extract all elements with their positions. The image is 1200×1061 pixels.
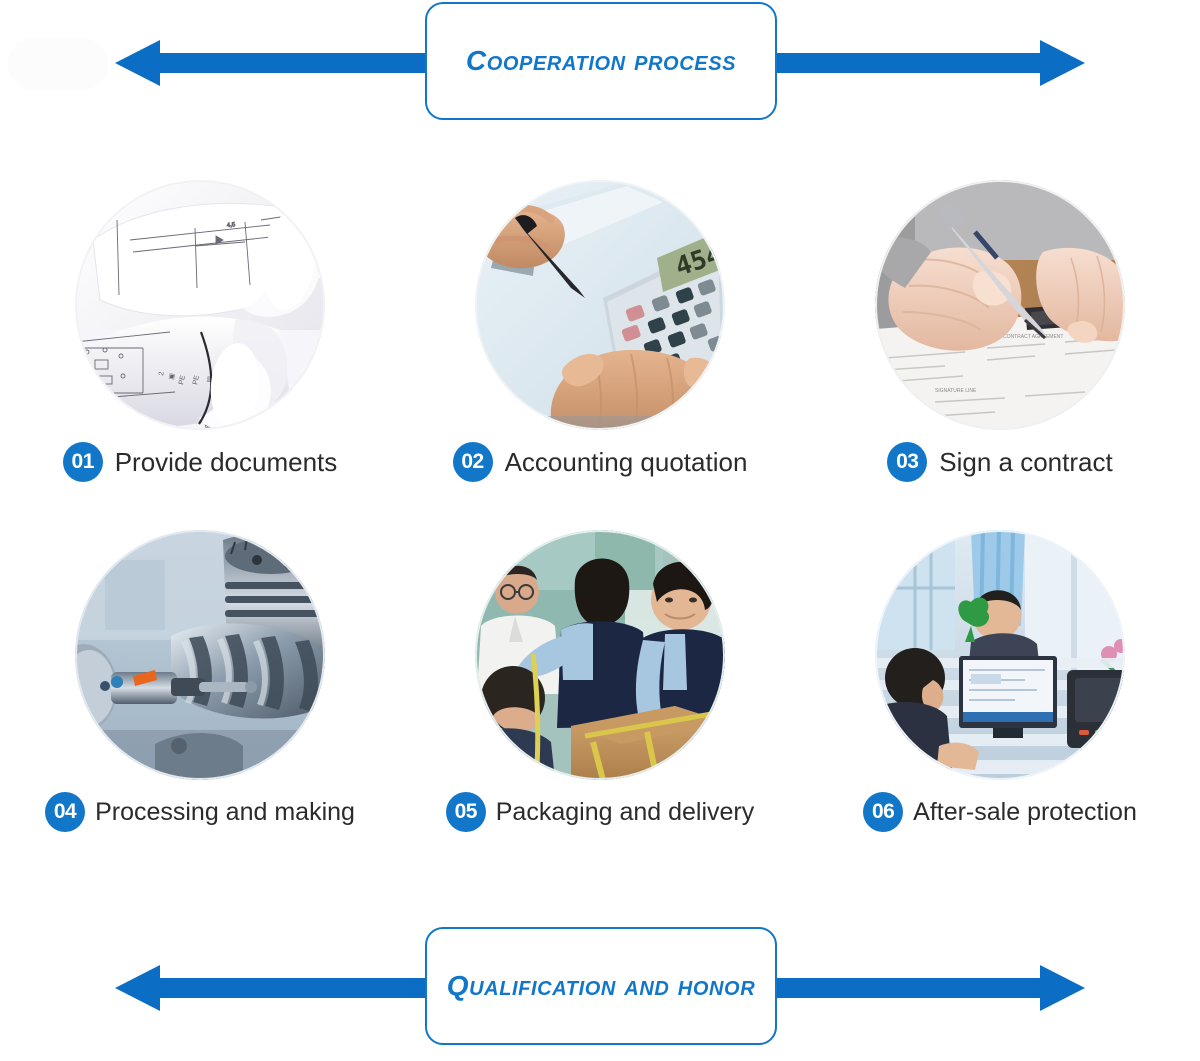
calculator-hands-photo: 4545 <box>475 180 725 430</box>
svg-text:CONTRACT AGREEMENT: CONTRACT AGREEMENT <box>1003 334 1063 340</box>
step-number-badge: 01 <box>63 442 103 482</box>
contract-signing-photo: CONTRACT AGREEMENT SIGNATURE LINE <box>875 180 1125 430</box>
rolled-blueprints-photo: b1 60 W <box>75 180 325 430</box>
step-05[interactable]: 05 Packaging and delivery <box>400 530 800 880</box>
banner-title-text: Cooperation process <box>466 45 736 77</box>
step-number-badge: 03 <box>887 442 927 482</box>
steps-row-1: b1 60 W <box>0 180 1200 530</box>
step-01[interactable]: b1 60 W <box>0 180 400 530</box>
step-caption: 02 Accounting quotation <box>400 442 800 482</box>
banner-title-box: Cooperation process <box>425 2 777 120</box>
step-number-badge: 06 <box>863 792 903 832</box>
step-number-badge: 02 <box>453 442 493 482</box>
step-number-badge: 04 <box>45 792 85 832</box>
step-label: Packaging and delivery <box>496 798 755 827</box>
cooperation-process-banner: Cooperation process <box>0 0 1200 130</box>
step-caption: 01 Provide documents <box>0 442 400 482</box>
step-label: After-sale protection <box>913 798 1137 827</box>
arrow-left-icon <box>115 965 448 1011</box>
step-label: Accounting quotation <box>505 447 748 478</box>
office-support-photo <box>875 530 1125 780</box>
step-06[interactable]: 06 After-sale protection <box>800 530 1200 880</box>
step-caption: 03 Sign a contract <box>800 442 1200 482</box>
step-label: Sign a contract <box>939 447 1112 478</box>
svg-text:4,5: 4,5 <box>227 222 237 229</box>
process-steps: b1 60 W <box>0 180 1200 880</box>
step-caption: 06 After-sale protection <box>800 792 1200 832</box>
steps-row-2: 04 Processing and making <box>0 530 1200 880</box>
step-04[interactable]: 04 Processing and making <box>0 530 400 880</box>
svg-text:SIGNATURE LINE: SIGNATURE LINE <box>935 388 977 394</box>
cnc-machining-photo <box>75 530 325 780</box>
step-caption: 05 Packaging and delivery <box>400 792 800 832</box>
step-02[interactable]: 4545 <box>400 180 800 530</box>
arrow-left-icon <box>115 40 448 86</box>
step-label: Processing and making <box>95 798 355 827</box>
qualification-honor-banner: Qualification and honor <box>0 925 1200 1055</box>
step-label: Provide documents <box>115 447 338 478</box>
packaging-workers-photo <box>475 530 725 780</box>
banner-title-text: Qualification and honor <box>447 970 756 1002</box>
step-caption: 04 Processing and making <box>0 792 400 832</box>
arrow-right-icon <box>752 965 1085 1011</box>
banner-title-box: Qualification and honor <box>425 927 777 1045</box>
arrow-right-icon <box>752 40 1085 86</box>
step-03[interactable]: CONTRACT AGREEMENT SIGNATURE LINE <box>800 180 1200 530</box>
step-number-badge: 05 <box>446 792 486 832</box>
